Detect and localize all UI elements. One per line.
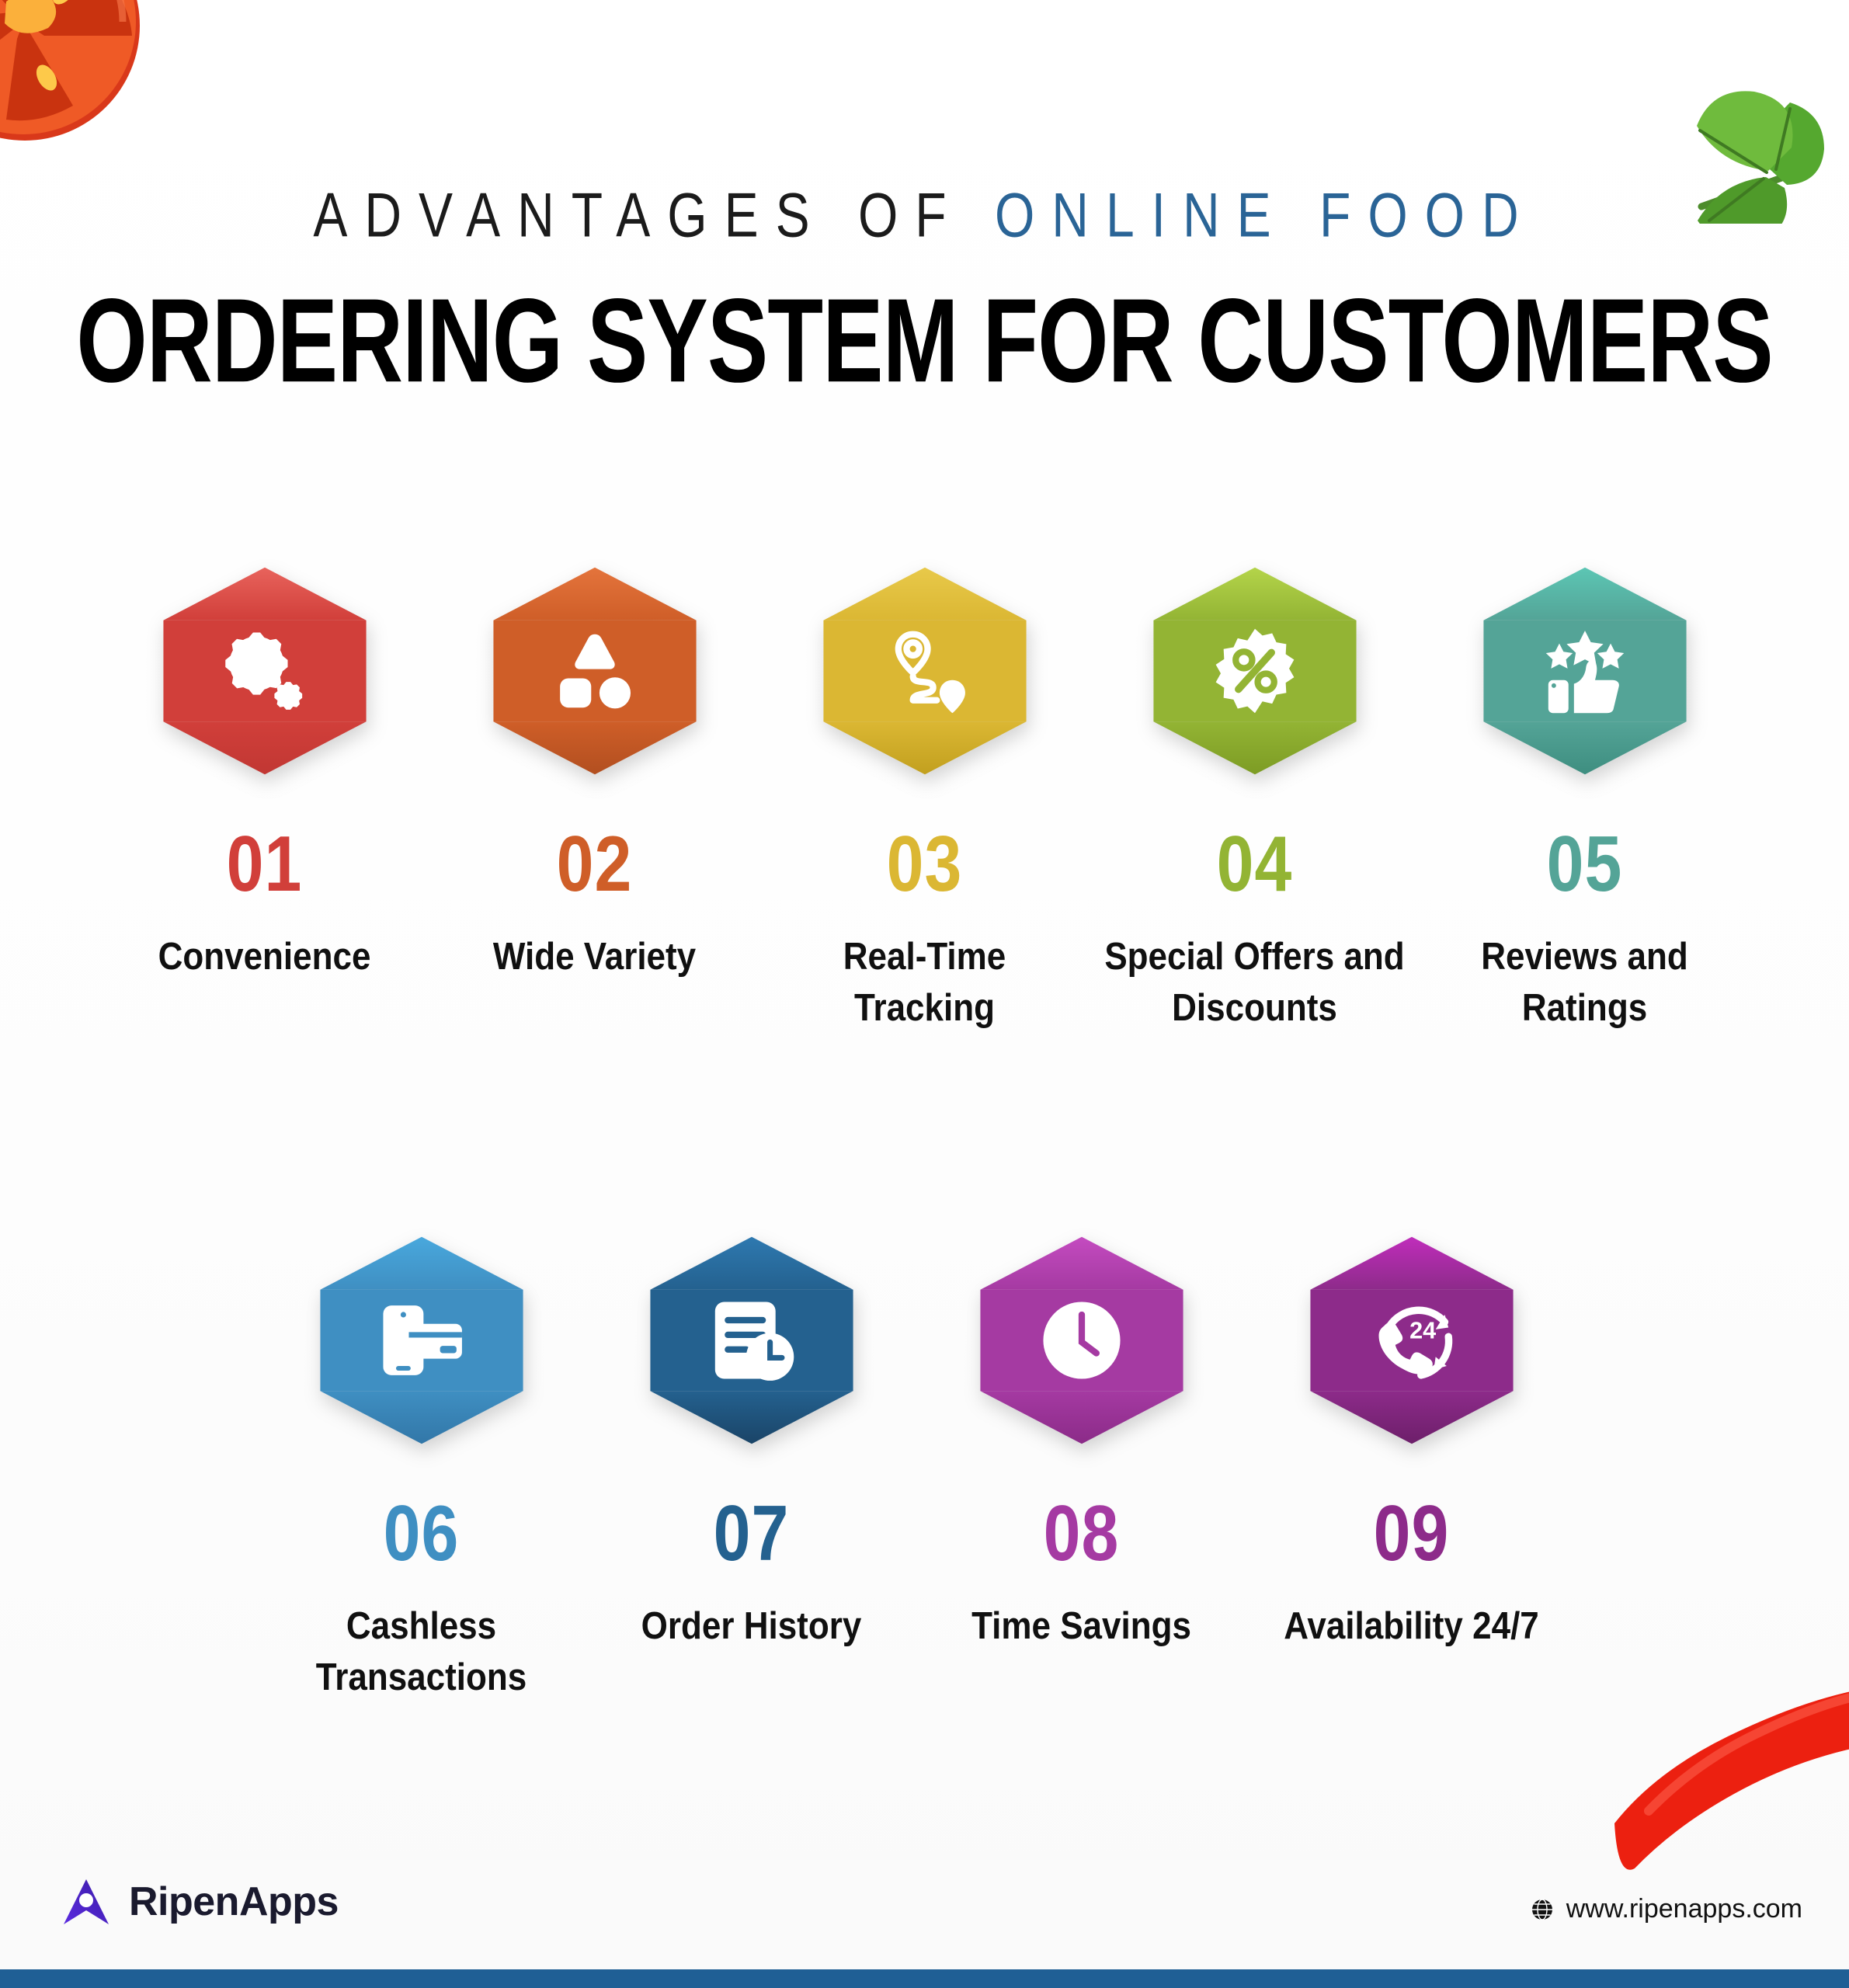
advantage-label: Time Savings: [971, 1601, 1191, 1653]
advantage-label: Real-Time Tracking: [770, 932, 1080, 1034]
advantage-label: Cashless Transactions: [266, 1601, 577, 1703]
hexagon-badge: [159, 565, 370, 777]
advantage-card[interactable]: 07 Order History: [586, 1235, 916, 1692]
advantage-label: Wide Variety: [493, 932, 696, 983]
advantage-card[interactable]: 02 Wide Variety: [429, 565, 759, 1023]
shapes-variety-icon: [489, 565, 700, 777]
advantage-number: 05: [1547, 825, 1623, 903]
route-pin-icon: [819, 565, 1031, 777]
hexagon-badge: 24: [1306, 1235, 1517, 1446]
advantage-number: 01: [227, 825, 303, 903]
bottom-accent-bar: [0, 1969, 1849, 1988]
phone-card-icon: [316, 1235, 527, 1446]
hexagon-badge: [1479, 565, 1691, 777]
advantage-number: 03: [887, 825, 963, 903]
hexagon-badge: [1149, 565, 1361, 777]
gear-check-icon: [159, 565, 370, 777]
website-url[interactable]: www.ripenapps.com: [1566, 1894, 1802, 1924]
kicker-line: ADVANTAGES OF ONLINE FOOD: [0, 183, 1849, 246]
advantage-card[interactable]: 05 Reviews and Ratings: [1420, 565, 1750, 1023]
document-clock-icon: [646, 1235, 857, 1446]
hexagon-badge: [316, 1235, 527, 1446]
hexagon-badge: [489, 565, 700, 777]
advantage-label: Reviews and Ratings: [1430, 932, 1740, 1034]
svg-text:24: 24: [1409, 1318, 1436, 1344]
kicker-accent: ONLINE FOOD: [995, 179, 1536, 249]
advantage-number: 06: [384, 1494, 460, 1573]
kicker-dark: ADVANTAGES OF: [313, 179, 995, 249]
advantage-number: 09: [1374, 1494, 1450, 1573]
clock-icon: [976, 1235, 1187, 1446]
page-title: ORDERING SYSTEM FOR CUSTOMERS: [19, 281, 1830, 401]
thumbs-up-stars-icon: [1479, 565, 1691, 777]
support-24-icon: 24: [1306, 1235, 1517, 1446]
ripenapps-arrow-logo-icon: [61, 1876, 112, 1927]
advantage-card[interactable]: 08 Time Savings: [916, 1235, 1246, 1692]
percent-badge-icon: [1149, 565, 1361, 777]
advantage-number: 08: [1044, 1494, 1120, 1573]
advantage-card[interactable]: 24 09 Availability 24/7: [1246, 1235, 1576, 1692]
advantage-label: Convenience: [158, 932, 371, 983]
globe-icon: [1531, 1898, 1554, 1921]
advantage-number: 07: [714, 1494, 790, 1573]
advantage-card[interactable]: 03 Real-Time Tracking: [759, 565, 1090, 1023]
hexagon-badge: [819, 565, 1031, 777]
footer: RipenApps www.ripenapps.com: [0, 1840, 1849, 1988]
advantage-label: Order History: [641, 1601, 862, 1653]
hexagon-badge: [976, 1235, 1187, 1446]
header: ADVANTAGES OF ONLINE FOOD ORDERING SYSTE…: [0, 183, 1849, 374]
brand-lockup: RipenApps: [61, 1876, 339, 1927]
advantage-card[interactable]: 01 Convenience: [99, 565, 429, 1023]
hexagon-badge: [646, 1235, 857, 1446]
advantage-label: Special Offers and Discounts: [1100, 932, 1410, 1034]
advantages-row-one: 01 Convenience 02 Wide Variety: [99, 565, 1750, 1023]
advantage-number: 04: [1217, 825, 1293, 903]
advantage-label: Availability 24/7: [1284, 1601, 1539, 1653]
advantages-row-two: 06 Cashless Transactions 07: [256, 1235, 1596, 1692]
advantage-number: 02: [557, 825, 633, 903]
advantage-card[interactable]: 04 Special Offers and Discounts: [1090, 565, 1420, 1023]
brand-name: RipenApps: [129, 1879, 339, 1925]
advantage-card[interactable]: 06 Cashless Transactions: [256, 1235, 586, 1692]
website-lockup[interactable]: www.ripenapps.com: [1531, 1894, 1802, 1924]
